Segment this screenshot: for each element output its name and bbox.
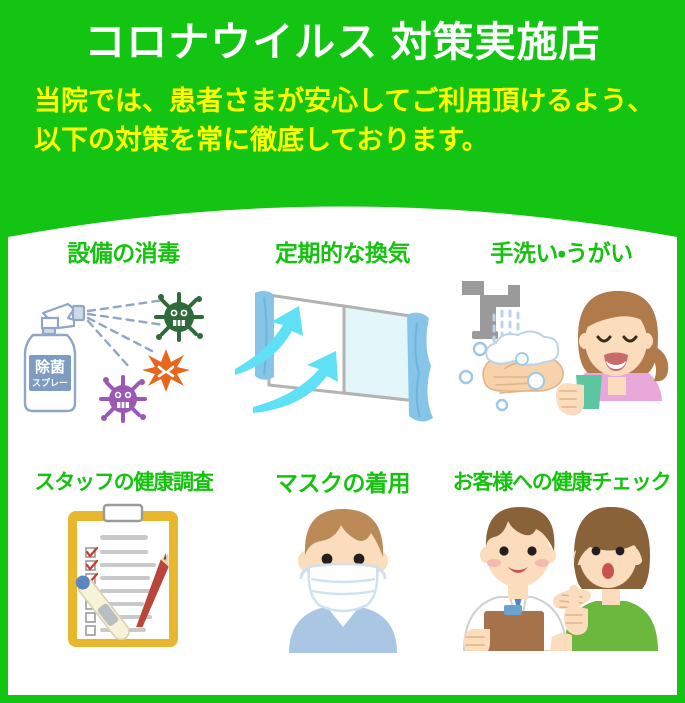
measure-label-customer-health-check: お客様への健康チェック — [450, 472, 673, 493]
handwashing-gargling-icon — [450, 273, 673, 423]
open-window-airflow-icon — [231, 273, 454, 423]
page-subtitle: 当院では、患者さまが安心してご利用頂けるよう、 以下の対策を常に徹底しております… — [34, 82, 674, 160]
measures-panel: 設備の消毒 — [8, 180, 677, 695]
measure-card-customer-health-check[interactable]: お客様への健康チェック — [450, 472, 673, 651]
germ-green-icon — [156, 294, 203, 340]
measure-card-disinfection[interactable]: 設備の消毒 — [12, 242, 235, 423]
measure-label-mask-wearing: マスクの着用 — [231, 472, 454, 495]
spray-bottle-germs-icon: 除菌 スプレー — [12, 273, 235, 423]
clipboard-checklist-thermometer-icon — [12, 501, 235, 651]
person-wearing-mask-icon — [231, 503, 454, 653]
measure-label-ventilation: 定期的な換気 — [231, 242, 454, 265]
measure-card-mask-wearing[interactable]: マスクの着用 — [231, 472, 454, 653]
germ-orange-icon — [142, 349, 190, 392]
measure-card-handwash-gargle[interactable]: 手洗い・うがい — [450, 242, 673, 423]
doctor-and-customer-icon — [450, 501, 673, 651]
subtitle-line-2: 以下の対策を常に徹底しております。 — [34, 121, 674, 160]
poster-root: コロナウイルス 対策実施店 当院では、患者さまが安心してご利用頂けるよう、 以下… — [0, 0, 685, 703]
spray-label-sub: スプレー — [32, 377, 68, 389]
measure-card-ventilation[interactable]: 定期的な換気 — [231, 242, 454, 423]
measure-label-staff-health-survey: スタッフの健康調査 — [12, 472, 235, 493]
subtitle-line-1: 当院では、患者さまが安心してご利用頂けるよう、 — [34, 82, 674, 121]
germ-purple-icon — [101, 377, 146, 421]
page-title: コロナウイルス 対策実施店 — [0, 20, 685, 65]
spray-label-main: 除菌 — [35, 358, 65, 376]
measure-label-disinfection: 設備の消毒 — [12, 242, 235, 265]
poster-header: コロナウイルス 対策実施店 当院では、患者さまが安心してご利用頂けるよう、 以下… — [0, 0, 685, 200]
customer-figure — [550, 507, 658, 651]
measure-card-staff-health-survey[interactable]: スタッフの健康調査 — [12, 472, 235, 651]
measure-label-handwash-gargle: 手洗い・うがい — [450, 242, 673, 265]
